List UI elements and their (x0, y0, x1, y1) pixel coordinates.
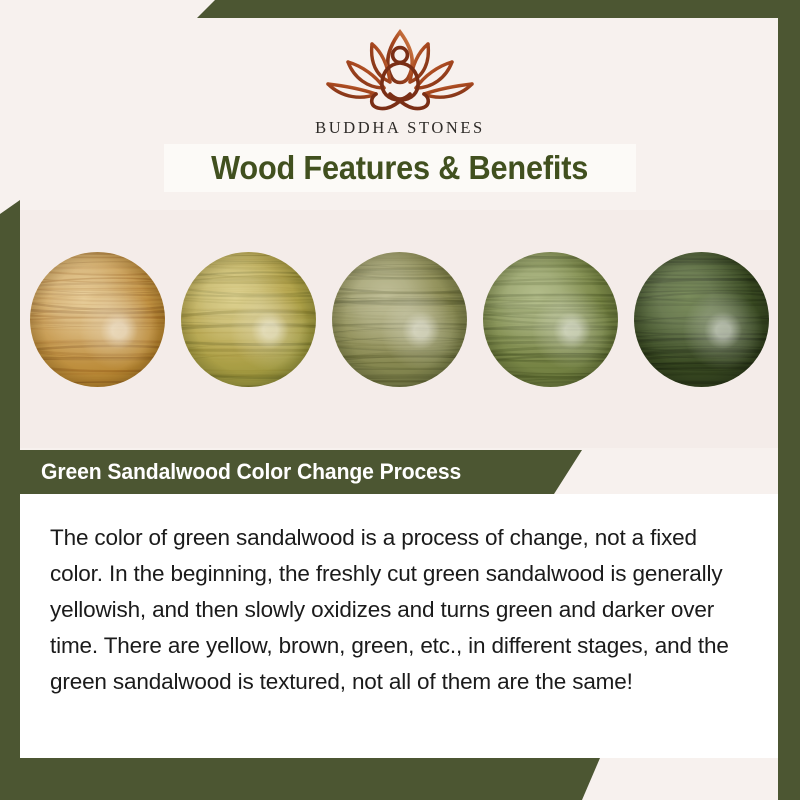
bead-2 (181, 252, 316, 387)
page-title-plaque: Wood Features & Benefits (164, 144, 636, 192)
bead-specular-shading (30, 252, 165, 387)
bead-1 (30, 252, 165, 387)
bead-specular-shading (332, 252, 467, 387)
bead-specular-shading (634, 252, 769, 387)
section-banner: Green Sandalwood Color Change Process (20, 450, 582, 494)
bead-gallery (20, 210, 778, 448)
bead-5 (634, 252, 769, 387)
bead-specular-shading (181, 252, 316, 387)
section-banner-title: Green Sandalwood Color Change Process (41, 459, 461, 485)
brand-logo-block: BUDDHA STONES (0, 22, 800, 138)
bead-row (20, 252, 778, 387)
frame-left-band (0, 200, 20, 800)
lotus-meditation-logo-icon (312, 22, 488, 114)
frame-bottom-band (0, 758, 800, 800)
brand-wordmark: BUDDHA STONES (0, 118, 800, 138)
frame-top-band (0, 0, 800, 18)
bead-3 (332, 252, 467, 387)
page-title: Wood Features & Benefits (212, 149, 589, 187)
bead-4 (483, 252, 618, 387)
poster-root: BUDDHA STONES Wood Features & Benefits G… (0, 0, 800, 800)
bead-specular-shading (483, 252, 618, 387)
section-body-panel: The color of green sandalwood is a proce… (20, 494, 778, 758)
section-body-text: The color of green sandalwood is a proce… (50, 520, 748, 700)
